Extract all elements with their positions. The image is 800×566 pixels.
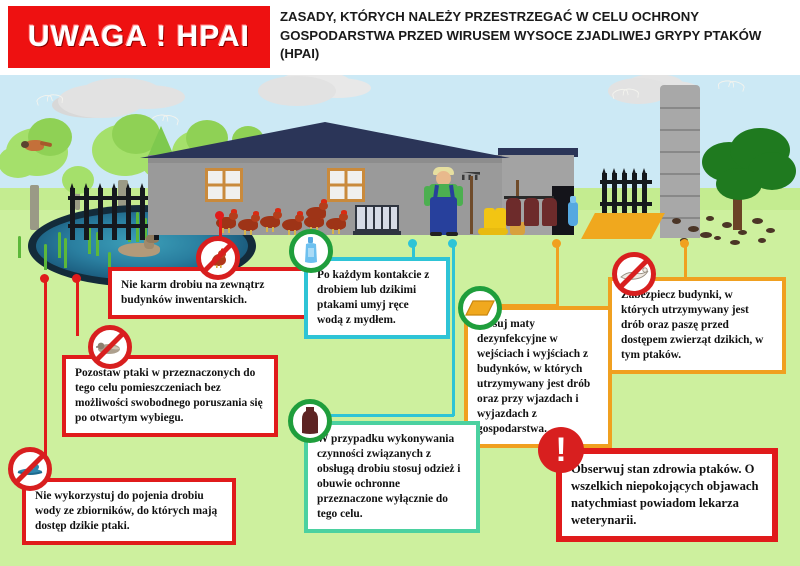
tip-text: Po każdym kontakcie z drobiem lub dzikim… bbox=[317, 268, 437, 328]
feed-spot bbox=[752, 218, 763, 224]
chicken-icon bbox=[326, 215, 348, 230]
reed-icon bbox=[44, 244, 47, 270]
no-water-bird-icon bbox=[8, 447, 52, 491]
chicken-icon bbox=[282, 216, 304, 231]
barn-window bbox=[327, 168, 365, 202]
cloud-icon bbox=[258, 76, 336, 106]
feed-spot bbox=[672, 218, 681, 224]
reed-icon bbox=[64, 238, 67, 268]
rake-handle bbox=[470, 176, 473, 234]
rubber-boot-sole bbox=[478, 228, 508, 235]
feed-spot bbox=[766, 228, 775, 233]
tip-text: W przypadku wykonywania czynności związa… bbox=[317, 432, 467, 522]
tip-protective-clothing: W przypadku wykonywania czynności związa… bbox=[304, 421, 480, 533]
tip-text: Nie karm drobiu na zewnątrz budynków inw… bbox=[121, 278, 307, 308]
feed-spot bbox=[706, 216, 714, 221]
page-title: ZASADY, KTÓRYCH NALEŻY PRZESTRZEGAĆ W CE… bbox=[280, 8, 792, 64]
tip-text: Zabezpiecz budynki, w których utrzymywan… bbox=[621, 288, 773, 363]
feed-spot bbox=[688, 226, 699, 232]
tip-text: Stosuj maty dezynfekcyjne w wejściach i … bbox=[477, 317, 599, 437]
disinfection-mat-icon bbox=[458, 286, 502, 330]
chicken-icon bbox=[306, 204, 328, 219]
feeder-crate bbox=[355, 205, 399, 231]
flying-bird-icon bbox=[612, 85, 639, 98]
apron-icon bbox=[524, 198, 539, 226]
no-wild-bird-icon bbox=[88, 325, 132, 369]
poster-header: UWAGA ! HPAI ZASADY, KTÓRYCH NALEŻY PRZE… bbox=[0, 0, 800, 75]
reed-icon bbox=[18, 236, 21, 258]
tip-text: Nie wykorzystuj do pojenia drobiu wody z… bbox=[35, 489, 223, 534]
tip-text: Obserwuj stan zdrowia ptaków. O wszelkic… bbox=[571, 461, 763, 529]
tip-observe-health: Obserwuj stan zdrowia ptaków. O wszelkic… bbox=[556, 448, 778, 542]
poster-root: ! Nie karm drobiu na zewnątrz budynków i… bbox=[0, 0, 800, 566]
grain-silo bbox=[660, 85, 700, 238]
tip-no-open-water: Nie wykorzystuj do pojenia drobiu wody z… bbox=[22, 478, 236, 545]
flying-bird-icon bbox=[717, 77, 744, 92]
feeder-crate-base bbox=[353, 231, 401, 235]
feed-spot bbox=[700, 232, 712, 238]
tip-wash-hands: Po każdym kontakcie z drobiem lub dzikim… bbox=[304, 257, 450, 339]
chicken-icon bbox=[238, 216, 260, 231]
feed-spot bbox=[730, 240, 740, 245]
apron-icon bbox=[288, 399, 332, 443]
exclamation-icon: ! bbox=[538, 427, 584, 473]
alert-badge: UWAGA ! HPAI bbox=[8, 6, 270, 68]
tip-keep-birds-indoors: Pozostaw ptaki w przeznaczonych do tego … bbox=[62, 355, 278, 437]
alert-badge-label: UWAGA ! HPAI bbox=[28, 20, 250, 54]
cloud-icon bbox=[58, 84, 144, 118]
tip-text: Pozostaw ptaki w przeznaczonych do tego … bbox=[75, 366, 265, 426]
feed-spot bbox=[758, 238, 766, 243]
no-chicken-icon bbox=[196, 236, 240, 280]
apron-icon bbox=[506, 198, 521, 226]
barn-window bbox=[205, 168, 243, 202]
chicken-icon bbox=[260, 213, 282, 228]
apron-icon bbox=[542, 198, 557, 226]
reed-icon bbox=[58, 232, 61, 258]
duck-icon bbox=[118, 238, 164, 256]
no-wild-animal-icon bbox=[612, 252, 656, 296]
spray-bottle-icon bbox=[568, 202, 578, 226]
feed-spot bbox=[714, 236, 721, 240]
disinfection-mat-ground bbox=[581, 213, 665, 239]
feed-spot bbox=[722, 222, 732, 228]
feed-spot bbox=[738, 230, 747, 235]
soap-bottle-icon bbox=[289, 229, 333, 273]
